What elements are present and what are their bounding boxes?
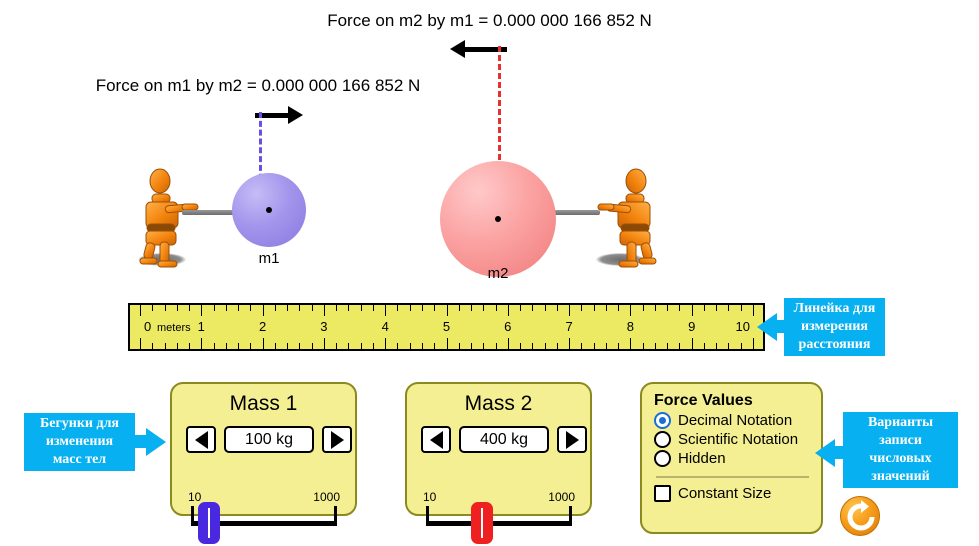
radio-option-decimal[interactable]: Decimal Notation	[654, 412, 811, 429]
ruler-minor-tick	[581, 343, 582, 349]
puller-figure-m1	[134, 168, 204, 268]
mass1-panel[interactable]: Mass 1 100 kg 10 1000	[170, 382, 357, 516]
callout-sliders-arrow-head-icon	[146, 428, 166, 456]
callout-ruler-line-3: расстояния	[799, 336, 871, 354]
ruler-major-tick	[630, 338, 631, 349]
mass1-label: m1	[239, 250, 299, 267]
ruler-minor-tick	[716, 343, 717, 349]
mass1-center-dot	[266, 207, 272, 213]
ruler-label: 4	[382, 319, 389, 334]
ruler-major-tick	[692, 305, 693, 316]
ruler-minor-tick	[275, 305, 276, 311]
ruler-minor-tick	[618, 343, 619, 349]
ruler-minor-tick	[704, 305, 705, 311]
ruler-major-tick	[385, 338, 386, 349]
mass2-increment-button[interactable]	[557, 426, 587, 453]
callout-ruler-line-1: Линейка для	[794, 300, 876, 318]
ruler-label: 6	[504, 319, 511, 334]
ruler-minor-tick	[336, 343, 337, 349]
ruler-major-tick	[201, 305, 202, 316]
ruler-label: 0	[144, 319, 151, 334]
ruler-minor-tick	[679, 305, 680, 311]
ruler-minor-tick	[434, 305, 435, 311]
ruler-major-tick	[447, 305, 448, 316]
ruler-minor-tick	[287, 343, 288, 349]
ruler-minor-tick	[728, 343, 729, 349]
ruler-label: 9	[688, 319, 695, 334]
mass2-center-dot	[495, 216, 501, 222]
ruler-label: 10	[736, 319, 750, 334]
ruler-minor-tick	[226, 305, 227, 311]
ruler-major-tick	[508, 305, 509, 316]
callout-ruler-line-2: измерения	[801, 318, 868, 336]
callout-ruler: Линейка для измерения расстояния	[784, 298, 885, 356]
mass2-slider-max-label: 1000	[548, 490, 575, 504]
ruler-minor-tick	[704, 343, 705, 349]
ruler-minor-tick	[679, 343, 680, 349]
ruler-minor-tick	[214, 343, 215, 349]
ruler-major-tick	[263, 338, 264, 349]
ruler-minor-tick	[545, 305, 546, 311]
ruler-label: 7	[565, 319, 572, 334]
ruler-label: 8	[627, 319, 634, 334]
mass2-value-field[interactable]: 400 kg	[459, 426, 549, 453]
ruler-minor-tick	[643, 343, 644, 349]
triangle-right-icon	[331, 431, 344, 449]
mass2-decrement-button[interactable]	[421, 426, 451, 453]
thumb-notch	[481, 508, 483, 538]
ruler-minor-tick	[618, 305, 619, 311]
radio-hidden-label: Hidden	[678, 450, 726, 467]
callout-notation-line-2: записи	[879, 432, 922, 450]
ruler-minor-tick	[299, 343, 300, 349]
force-arrow-m1-right	[255, 106, 303, 124]
ruler-major-tick	[140, 305, 141, 316]
ruler-minor-tick	[557, 305, 558, 311]
mass1-panel-title: Mass 1	[172, 392, 355, 416]
ruler-minor-tick	[520, 343, 521, 349]
triangle-left-icon	[430, 431, 443, 449]
ruler-major-tick	[324, 338, 325, 349]
ruler-minor-tick	[397, 343, 398, 349]
ruler-minor-tick	[594, 343, 595, 349]
ruler-minor-tick	[434, 343, 435, 349]
ruler-label: 1	[198, 319, 205, 334]
ruler-minor-tick	[165, 343, 166, 349]
ruler-minor-tick	[312, 305, 313, 311]
ruler-major-tick	[569, 338, 570, 349]
ruler-minor-tick	[716, 305, 717, 311]
callout-ruler-arrow-head-icon	[757, 313, 777, 341]
ruler-minor-tick	[152, 343, 153, 349]
ruler-minor-tick	[606, 343, 607, 349]
ruler-unit-label: meters	[157, 322, 191, 334]
callout-notation-arrow-head-icon	[815, 439, 835, 467]
ruler[interactable]: 012345678910 meters	[128, 303, 765, 351]
ruler-minor-tick	[520, 305, 521, 311]
radio-decimal-label: Decimal Notation	[678, 412, 792, 429]
mass2-panel[interactable]: Mass 2 400 kg 10 1000	[405, 382, 592, 516]
triangle-left-icon	[195, 431, 208, 449]
ruler-minor-tick	[287, 305, 288, 311]
ruler-minor-tick	[373, 305, 374, 311]
ruler-minor-tick	[189, 343, 190, 349]
panel-divider	[656, 476, 809, 478]
ruler-minor-tick	[410, 343, 411, 349]
ruler-minor-tick	[741, 343, 742, 349]
ruler-minor-tick	[214, 305, 215, 311]
ruler-minor-tick	[741, 305, 742, 311]
ruler-major-tick	[201, 338, 202, 349]
ruler-minor-tick	[177, 343, 178, 349]
checkbox-constant-size-label: Constant Size	[678, 485, 771, 502]
ruler-minor-tick	[410, 305, 411, 311]
ruler-minor-tick	[471, 343, 472, 349]
mass1-slider-max-label: 1000	[313, 490, 340, 504]
reset-circular-arrow-icon	[841, 497, 881, 537]
ruler-minor-tick	[189, 305, 190, 311]
mass1-value-field[interactable]: 100 kg	[224, 426, 314, 453]
callout-sliders: Бегунки для изменения масс тел	[24, 413, 135, 471]
ruler-major-tick	[140, 338, 141, 349]
ruler-minor-tick	[557, 343, 558, 349]
ruler-minor-tick	[226, 343, 227, 349]
checkbox-constant-size-icon[interactable]	[654, 485, 671, 502]
ruler-minor-tick	[545, 343, 546, 349]
radio-scientific-label: Scientific Notation	[678, 431, 798, 448]
arrow-head-left-icon	[450, 40, 465, 58]
ruler-minor-tick	[496, 343, 497, 349]
ruler-minor-tick	[312, 343, 313, 349]
triangle-right-icon	[566, 431, 579, 449]
thumb-notch	[208, 508, 210, 538]
force-on-m1-readout: Force on m1 by m2 = 0.000 000 166 852 N	[0, 76, 516, 96]
force-values-panel[interactable]: Force Values Decimal Notation Scientific…	[640, 382, 823, 534]
ruler-minor-tick	[397, 305, 398, 311]
callout-notation-line-1: Варианты	[868, 414, 933, 432]
ruler-label: 3	[320, 319, 327, 334]
ruler-minor-tick	[336, 305, 337, 311]
ruler-minor-tick	[275, 343, 276, 349]
ruler-major-tick	[692, 338, 693, 349]
radio-scientific-icon[interactable]	[654, 431, 671, 448]
ruler-minor-tick	[238, 305, 239, 311]
ruler-major-tick	[569, 305, 570, 316]
ruler-minor-tick	[177, 305, 178, 311]
callout-notation-line-3: числовых	[869, 450, 931, 468]
ruler-minor-tick	[165, 305, 166, 311]
ruler-minor-tick	[361, 343, 362, 349]
mass2-label: m2	[468, 265, 528, 282]
ruler-minor-tick	[459, 305, 460, 311]
radio-decimal-icon[interactable]	[654, 412, 671, 429]
ruler-minor-tick	[581, 305, 582, 311]
ruler-minor-tick	[299, 305, 300, 311]
ruler-minor-tick	[606, 305, 607, 311]
mass1-slider-min-label: 10	[188, 490, 201, 504]
mass2-slider-thumb[interactable]	[471, 502, 493, 544]
mass1-decrement-button[interactable]	[186, 426, 216, 453]
callout-sliders-line-3: масс тел	[53, 451, 106, 469]
callout-notation: Варианты записи числовых значений	[843, 412, 958, 488]
mass2-slider-track[interactable]	[426, 521, 572, 526]
radio-option-scientific[interactable]: Scientific Notation	[654, 431, 811, 448]
ruler-minor-tick	[532, 305, 533, 311]
ruler-minor-tick	[483, 305, 484, 311]
callout-sliders-line-2: изменения	[46, 433, 113, 451]
reset-button[interactable]	[840, 496, 880, 536]
ruler-minor-tick	[459, 343, 460, 349]
ruler-minor-tick	[373, 343, 374, 349]
checkbox-constant-size[interactable]: Constant Size	[654, 485, 811, 502]
force-values-title: Force Values	[654, 392, 811, 410]
ruler-minor-tick	[348, 343, 349, 349]
puller-figure-m2	[592, 168, 662, 268]
ruler-minor-tick	[655, 343, 656, 349]
ruler-minor-tick	[250, 343, 251, 349]
ruler-major-tick	[753, 338, 754, 349]
callout-sliders-line-1: Бегунки для	[40, 415, 119, 433]
ruler-minor-tick	[655, 305, 656, 311]
ruler-minor-tick	[496, 305, 497, 311]
ruler-major-tick	[630, 305, 631, 316]
radio-option-hidden[interactable]: Hidden	[654, 450, 811, 467]
ruler-minor-tick	[348, 305, 349, 311]
callout-notation-line-4: значений	[871, 468, 929, 486]
mass2-slider[interactable]: 10 1000	[423, 490, 575, 544]
rope-m2	[550, 210, 600, 215]
ruler-minor-tick	[667, 305, 668, 311]
ruler-minor-tick	[643, 305, 644, 311]
ruler-minor-tick	[422, 305, 423, 311]
ruler-major-tick	[508, 338, 509, 349]
ruler-major-tick	[263, 305, 264, 316]
ruler-minor-tick	[594, 305, 595, 311]
ruler-major-tick	[447, 338, 448, 349]
force-on-m2-readout: Force on m2 by m1 = 0.000 000 166 852 N	[0, 11, 979, 31]
ruler-minor-tick	[532, 343, 533, 349]
mass2-slider-min-label: 10	[423, 490, 436, 504]
arrow-head-right-icon	[288, 106, 303, 124]
ruler-minor-tick	[471, 305, 472, 311]
ruler-minor-tick	[483, 343, 484, 349]
ruler-minor-tick	[728, 305, 729, 311]
ruler-major-tick	[385, 305, 386, 316]
mass2-panel-title: Mass 2	[407, 392, 590, 416]
mass1-slider-thumb[interactable]	[198, 502, 220, 544]
ruler-minor-tick	[152, 305, 153, 311]
ruler-minor-tick	[250, 305, 251, 311]
ruler-minor-tick	[238, 343, 239, 349]
mass1-slider[interactable]: 10 1000	[188, 490, 340, 544]
ruler-minor-tick	[667, 343, 668, 349]
ruler-label: 2	[259, 319, 266, 334]
mass1-increment-button[interactable]	[322, 426, 352, 453]
ruler-label: 5	[443, 319, 450, 334]
ruler-minor-tick	[422, 343, 423, 349]
radio-hidden-icon[interactable]	[654, 450, 671, 467]
ruler-major-tick	[753, 305, 754, 316]
ruler-minor-tick	[361, 305, 362, 311]
callout-sliders-arrow-stem	[133, 435, 147, 448]
ruler-major-tick	[324, 305, 325, 316]
